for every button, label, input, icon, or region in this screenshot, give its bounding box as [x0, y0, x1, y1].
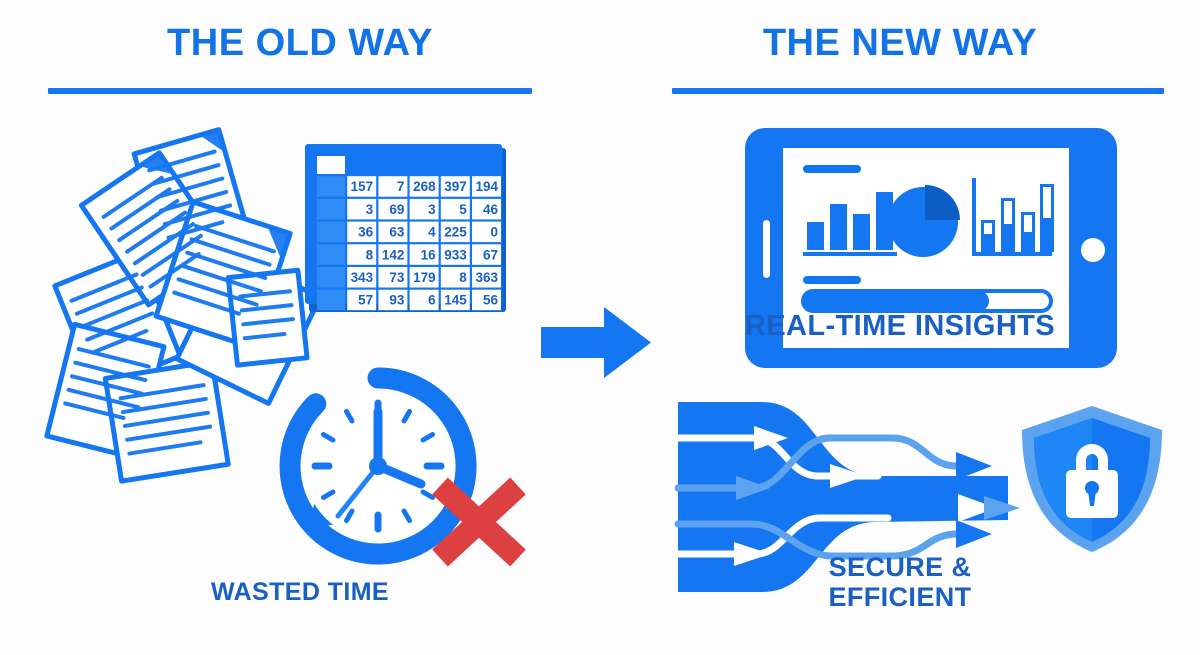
spreadsheet-cell: 933: [444, 247, 467, 262]
spreadsheet-cell: 16: [421, 247, 437, 262]
scattered-documents-icon: [45, 118, 310, 463]
spreadsheet-cell: 7: [397, 179, 405, 194]
spreadsheet-cell: 57: [358, 293, 373, 308]
real-time-insights-caption: REAL-TIME INSIGHTS: [600, 310, 1200, 343]
old-way-heading: THE OLD WAY: [0, 22, 600, 65]
spreadsheet-cell: 0: [490, 225, 498, 240]
spreadsheet-cell: 93: [389, 293, 405, 308]
spreadsheet-cell: 46: [483, 202, 499, 217]
old-way-underline: [48, 88, 532, 94]
spreadsheet-cell: 157: [351, 179, 374, 194]
red-x-icon: [424, 472, 534, 572]
spreadsheet-cell: 4: [428, 225, 436, 240]
spreadsheet-cell: 5: [459, 202, 467, 217]
spreadsheet-cell: 194: [475, 179, 498, 194]
progress-bar-icon: [803, 291, 1051, 311]
spreadsheet-cell: 343: [351, 270, 374, 285]
spreadsheet-grid-icon: 1577268397194369354636634225081421693367…: [305, 144, 510, 312]
spreadsheet-cell: 8: [459, 270, 467, 285]
secure-efficient-caption: SECURE & EFFICIENT: [600, 552, 1200, 612]
spreadsheet-cell: 67: [483, 247, 498, 262]
spreadsheet-cell: 397: [444, 179, 467, 194]
spreadsheet-cell: 8: [366, 247, 374, 262]
new-way-underline: [672, 88, 1164, 94]
secure-line-1: SECURE &: [600, 552, 1200, 582]
new-way-heading: THE NEW WAY: [600, 22, 1200, 65]
spreadsheet-cell: 145: [444, 293, 467, 308]
spreadsheet-cell: 179: [413, 270, 436, 285]
panel-old-way: THE OLD WAY: [0, 0, 600, 655]
spreadsheet-cell: 225: [444, 225, 467, 240]
spreadsheet-cell: 268: [413, 179, 436, 194]
spreadsheet-cell: 69: [389, 202, 404, 217]
spreadsheet-cell: 56: [483, 293, 499, 308]
wasted-time-caption: WASTED TIME: [0, 578, 600, 607]
spreadsheet-cell: 6: [428, 293, 436, 308]
spreadsheet-cell: 142: [382, 247, 405, 262]
infographic-canvas: THE OLD WAY: [0, 0, 1200, 655]
spreadsheet-cell: 63: [389, 225, 405, 240]
spreadsheet-cell: 363: [475, 270, 498, 285]
spreadsheet-cell: 3: [428, 202, 436, 217]
shield-lock-icon: [1018, 404, 1166, 554]
panel-new-way: THE NEW WAY: [600, 0, 1200, 655]
spreadsheet-cell: 3: [366, 202, 374, 217]
secure-line-2: EFFICIENT: [600, 582, 1200, 612]
spreadsheet-cell: 73: [389, 270, 405, 285]
spreadsheet-cell: 36: [358, 225, 374, 240]
